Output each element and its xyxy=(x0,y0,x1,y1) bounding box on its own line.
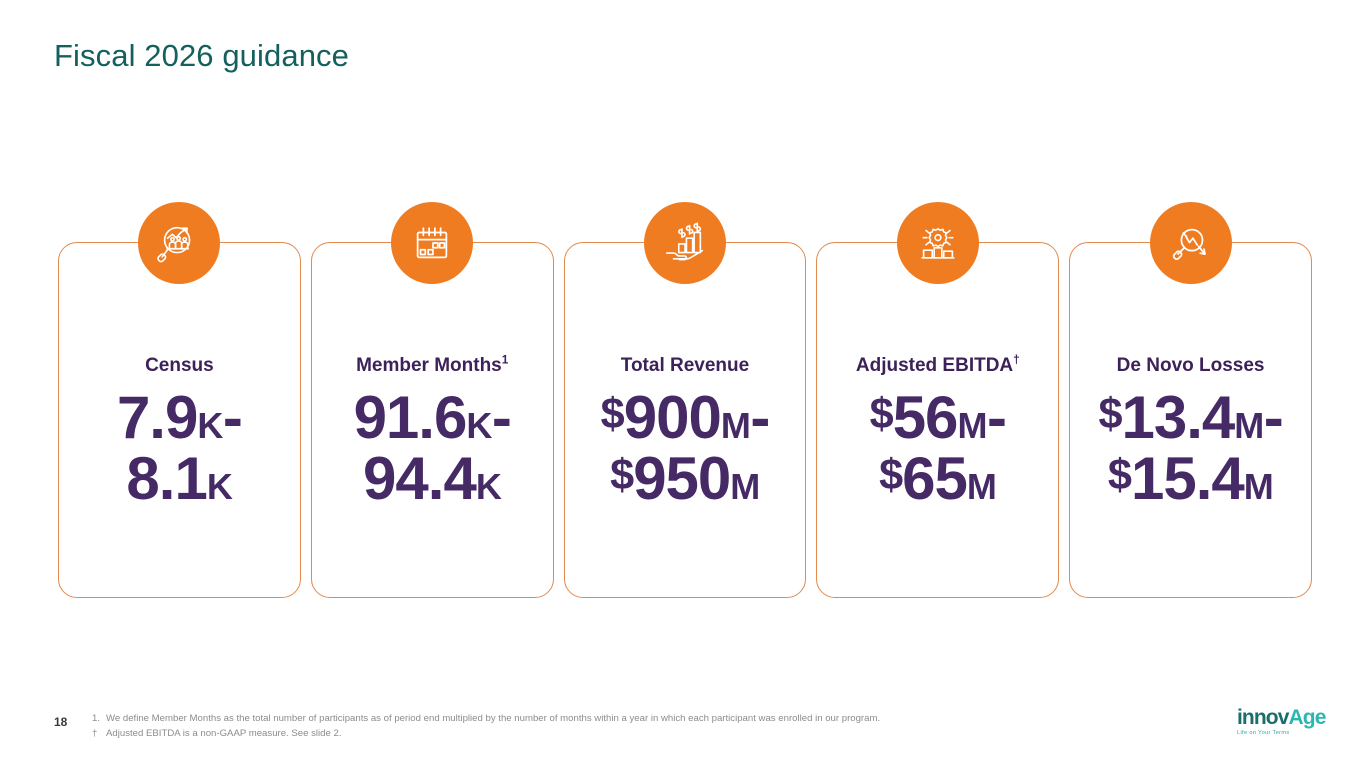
magnifier-declining-chart-icon xyxy=(1150,202,1232,284)
footnote-marker: 1. xyxy=(92,712,106,727)
guidance-card-member-months: Member Months1 91.6K- 94.4K xyxy=(311,242,554,598)
card-label-superscript: † xyxy=(1013,354,1020,367)
value-number: 15.4 xyxy=(1131,445,1244,512)
currency-symbol: $ xyxy=(610,452,633,500)
footnote-marker: † xyxy=(92,727,106,742)
card-value-line-1: 91.6K- xyxy=(354,387,511,448)
card-value-line-1: $56M- xyxy=(870,387,1006,448)
card-label: Census xyxy=(145,356,214,377)
card-label: Total Revenue xyxy=(621,356,749,377)
value-dash: - xyxy=(492,384,511,451)
value-number: 94.4 xyxy=(363,445,476,512)
card-value-line-2: 94.4K xyxy=(354,448,511,509)
logo-tagline: Life on Your Terms xyxy=(1237,730,1343,736)
logo-wordmark: innovAge xyxy=(1237,707,1343,728)
footnote-text: Adjusted EBITDA is a non-GAAP measure. S… xyxy=(106,727,342,742)
hand-money-bars-icon xyxy=(644,202,726,284)
logo-word-primary: innov xyxy=(1237,706,1289,729)
card-value-line-1: $13.4M- xyxy=(1098,387,1282,448)
value-dash: - xyxy=(750,384,769,451)
currency-symbol: $ xyxy=(1108,452,1131,500)
value-number: 65 xyxy=(902,445,967,512)
value-unit: M xyxy=(730,466,760,507)
footnote-text: We define Member Months as the total num… xyxy=(106,712,880,727)
value-number: 91.6 xyxy=(354,384,467,451)
card-value: 7.9K- 8.1K xyxy=(111,387,248,509)
card-value-line-1: 7.9K- xyxy=(117,387,242,448)
value-unit: K xyxy=(197,405,223,446)
card-value: $13.4M- $15.4M xyxy=(1092,387,1288,509)
card-label: Member Months1 xyxy=(356,356,508,377)
magnifier-people-growth-icon xyxy=(138,202,220,284)
card-label: Adjusted EBITDA† xyxy=(856,356,1020,377)
value-unit: M xyxy=(1234,405,1264,446)
card-value: $56M- $65M xyxy=(864,387,1012,509)
currency-symbol: $ xyxy=(879,452,902,500)
value-unit: K xyxy=(476,466,502,507)
card-value-line-2: $15.4M xyxy=(1098,448,1282,509)
gear-bars-icon xyxy=(897,202,979,284)
guidance-card-total-revenue: Total Revenue $900M- $950M xyxy=(564,242,807,598)
footnotes: 1. We define Member Months as the total … xyxy=(92,712,880,742)
guidance-card-de-novo-losses: De Novo Losses $13.4M- $15.4M xyxy=(1069,242,1312,598)
calendar-icon xyxy=(391,202,473,284)
value-dash: - xyxy=(223,384,242,451)
footnote-item: † Adjusted EBITDA is a non-GAAP measure.… xyxy=(92,727,880,742)
card-value-line-2: $950M xyxy=(601,448,770,509)
value-unit: K xyxy=(207,466,233,507)
value-unit: M xyxy=(967,466,997,507)
card-label-superscript: 1 xyxy=(502,354,509,367)
value-number: 56 xyxy=(893,384,958,451)
card-value-line-1: $900M- xyxy=(601,387,770,448)
currency-symbol: $ xyxy=(601,390,624,438)
innovage-logo: innovAge Life on Your Terms xyxy=(1237,707,1343,741)
card-value-line-2: 8.1K xyxy=(117,448,242,509)
value-number: 8.1 xyxy=(126,445,206,512)
card-value: $900M- $950M xyxy=(595,387,776,509)
value-number: 900 xyxy=(624,384,721,451)
value-dash: - xyxy=(987,384,1006,451)
currency-symbol: $ xyxy=(1098,390,1121,438)
value-unit: M xyxy=(1244,466,1274,507)
page-title: Fiscal 2026 guidance xyxy=(54,38,349,74)
footnote-item: 1. We define Member Months as the total … xyxy=(92,712,880,727)
value-unit: M xyxy=(721,405,751,446)
value-number: 7.9 xyxy=(117,384,197,451)
value-dash: - xyxy=(1264,384,1283,451)
guidance-card-adjusted-ebitda: Adjusted EBITDA† $56M- $65M xyxy=(816,242,1059,598)
page-number: 18 xyxy=(54,715,67,729)
value-number: 950 xyxy=(633,445,730,512)
value-unit: K xyxy=(466,405,492,446)
currency-symbol: $ xyxy=(870,390,893,438)
guidance-card-census: Census 7.9K- 8.1K xyxy=(58,242,301,598)
logo-word-accent: Age xyxy=(1289,706,1326,729)
value-unit: M xyxy=(957,405,987,446)
card-value: 91.6K- 94.4K xyxy=(348,387,517,509)
card-label: De Novo Losses xyxy=(1117,356,1265,377)
value-number: 13.4 xyxy=(1121,384,1234,451)
card-value-line-2: $65M xyxy=(870,448,1006,509)
guidance-card-deck: Census 7.9K- 8.1K Member Months1 xyxy=(58,242,1312,598)
